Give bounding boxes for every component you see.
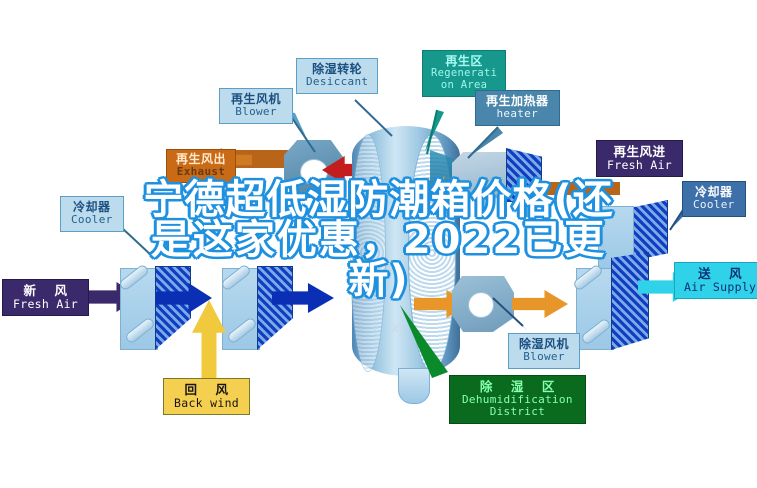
label-dehum-area-cn: 除湿区 [462,380,573,394]
label-back-wind-en: Back wind [174,397,239,410]
label-fresh-air[interactable]: 新风 Fresh Air [2,279,89,316]
label-cooler-right-cn: 冷却器 [693,186,735,199]
label-desiccant[interactable]: 除湿转轮 Desiccant [296,58,378,94]
label-heater[interactable]: 再生加热器 heater [475,90,560,126]
label-air-supply[interactable]: 送风 Air Supply [674,262,757,299]
label-dehum-area-en2: District [462,406,573,418]
label-dehum-area[interactable]: 除湿区 Dehumidification District [449,375,586,424]
label-cooler-left-en: Cooler [71,214,113,226]
label-dehum-blower[interactable]: 除湿风机 Blower [508,333,580,369]
label-exhaust[interactable]: 再生风出 Exhaust [166,149,236,183]
label-regen-in-cn: 再生风进 [607,145,672,159]
label-regen-in[interactable]: 再生风进 Fresh Air [596,140,683,177]
label-exhaust-cn: 再生风出 [176,153,226,166]
label-regen-blower[interactable]: 再生风机 Blower [219,88,293,124]
label-dehum-blower-cn: 除湿风机 [519,338,569,351]
label-desiccant-en: Desiccant [306,76,368,88]
label-cooler-right-en: Cooler [693,199,735,211]
label-dehum-blower-en: Blower [519,351,569,363]
label-heater-en: heater [486,108,549,120]
label-cooler-left-cn: 冷却器 [71,201,113,214]
leader-lines [0,0,757,488]
label-regen-in-en: Fresh Air [607,159,672,172]
label-fresh-air-en: Fresh Air [13,298,78,311]
diagram-canvas: OG XT 除湿转轮 Desiccant 再生风机 Blower 再生区 Reg… [0,0,757,488]
label-air-supply-en: Air Supply [684,281,756,294]
label-regen-blower-cn: 再生风机 [231,93,281,106]
label-heater-cn: 再生加热器 [486,95,549,108]
label-air-supply-cn: 送风 [684,267,756,281]
label-exhaust-en: Exhaust [176,166,226,178]
label-cooler-left[interactable]: 冷却器 Cooler [60,196,124,232]
label-regen-area-cn: 再生区 [431,55,497,68]
label-back-wind-cn: 回风 [174,383,239,397]
label-fresh-air-cn: 新风 [13,284,78,298]
label-cooler-right[interactable]: 冷却器 Cooler [682,181,746,217]
label-back-wind[interactable]: 回风 Back wind [163,378,250,415]
label-desiccant-cn: 除湿转轮 [306,63,368,76]
label-regen-blower-en: Blower [231,106,281,118]
